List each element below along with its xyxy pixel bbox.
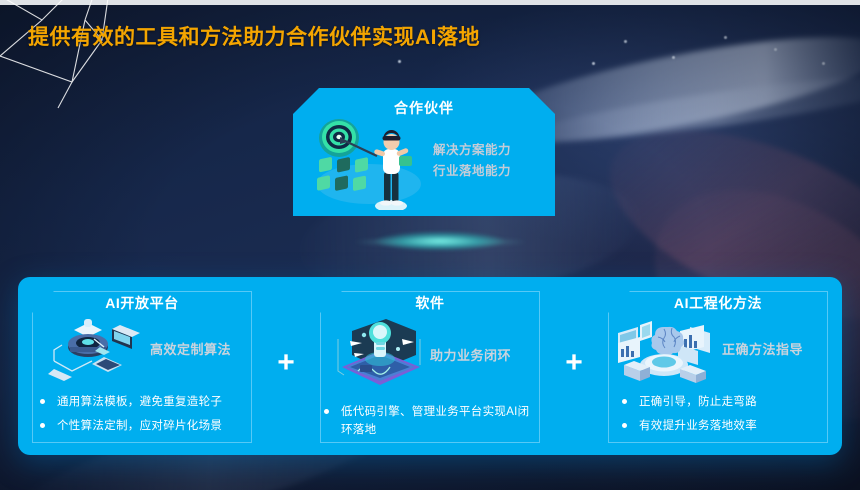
bullet-item: 正确引导，防止走弯路 — [622, 393, 828, 411]
bullet-dot-icon — [622, 399, 627, 404]
plus-separator-1: + — [266, 277, 306, 455]
column-bullet-list: 正确引导，防止走弯路 有效提升业务落地效率 — [622, 393, 828, 441]
bullet-item: 低代码引擎、管理业务平台实现AI闭环落地 — [324, 403, 540, 439]
glow-arc-connector — [355, 228, 525, 254]
plus-separator-2: + — [554, 277, 594, 455]
bullet-dot-icon — [40, 399, 45, 404]
capability-column-ai-engineering[interactable]: AI工程化方法 — [594, 277, 842, 455]
capability-column-software[interactable]: 软件 — [306, 277, 554, 455]
page-title: 提供有效的工具和方法助力合作伙伴实现AI落地 — [28, 22, 498, 53]
bullet-item: 有效提升业务落地效率 — [622, 417, 828, 435]
bullet-text: 个性算法定制，应对碎片化场景 — [57, 417, 222, 435]
column-bullet-list: 通用算法模板，避免重复造轮子 个性算法定制，应对碎片化场景 — [40, 393, 252, 441]
bullet-dot-icon — [324, 409, 329, 414]
bullet-item: 个性算法定制，应对碎片化场景 — [40, 417, 252, 435]
column-highlight: 高效定制算法 — [150, 339, 280, 358]
partner-card[interactable]: 合作伙伴 — [293, 88, 555, 216]
brain-analytics-method-icon — [614, 321, 714, 387]
partner-capability-item: 解决方案能力 — [433, 140, 551, 161]
column-title: AI开放平台 — [18, 293, 266, 313]
bullet-dot-icon — [40, 423, 45, 428]
slide-canvas: 提供有效的工具和方法助力合作伙伴实现AI落地 合作伙伴 — [0, 0, 860, 490]
column-bullet-list: 低代码引擎、管理业务平台实现AI闭环落地 — [324, 403, 540, 445]
bullet-text: 有效提升业务落地效率 — [639, 417, 757, 435]
column-title: AI工程化方法 — [594, 293, 842, 313]
bullet-text: 正确引导，防止走弯路 — [639, 393, 757, 411]
bullet-text: 通用算法模板，避免重复造轮子 — [57, 393, 222, 411]
ai-platform-server-icon — [48, 317, 144, 383]
capability-columns: AI开放平台 — [18, 277, 842, 455]
capability-column-ai-platform[interactable]: AI开放平台 — [18, 277, 266, 455]
bullet-dot-icon — [622, 423, 627, 428]
person-with-target-and-cards-icon — [307, 114, 427, 210]
partner-capability-list: 解决方案能力 行业落地能力 — [433, 140, 551, 182]
bullet-item: 通用算法模板，避免重复造轮子 — [40, 393, 252, 411]
bullet-text: 低代码引擎、管理业务平台实现AI闭环落地 — [341, 403, 540, 439]
capability-panel: AI开放平台 — [18, 277, 842, 455]
software-lightbulb-dashboard-icon — [332, 315, 426, 389]
column-highlight: 正确方法指导 — [722, 339, 852, 358]
column-title: 软件 — [306, 293, 554, 313]
partner-capability-item: 行业落地能力 — [433, 161, 551, 182]
column-highlight: 助力业务闭环 — [430, 345, 560, 364]
